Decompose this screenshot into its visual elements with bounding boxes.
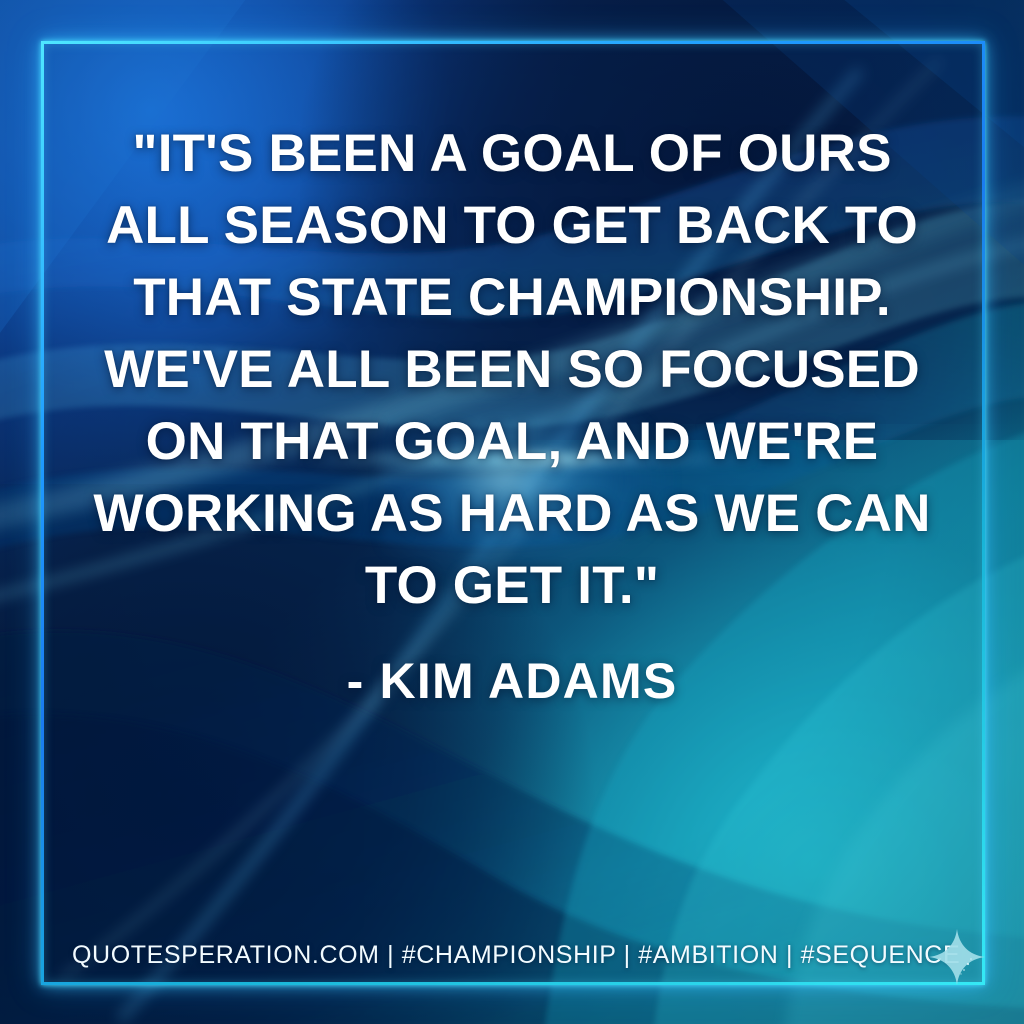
quote-card: "IT'S BEEN A GOAL OF OURS ALL SEASON TO … [0, 0, 1024, 1024]
quote-line: ON THAT GOAL, AND WE'RE [62, 406, 962, 478]
quote-line: ALL SEASON TO GET BACK TO [62, 190, 962, 262]
quote-attribution: - KIM ADAMS [62, 652, 962, 710]
quote-line: TO GET IT." [62, 550, 962, 622]
quote-line: "IT'S BEEN A GOAL OF OURS [62, 118, 962, 190]
quote-line: WORKING AS HARD AS WE CAN [62, 478, 962, 550]
four-point-sparkle-icon [928, 928, 986, 986]
quote-line: WE'VE ALL BEEN SO FOCUSED [62, 334, 962, 406]
footer-bar: QUOTESPERATION.COM | #CHAMPIONSHIP | #AM… [72, 941, 972, 970]
footer-credits: QUOTESPERATION.COM | #CHAMPIONSHIP | #AM… [72, 941, 960, 970]
quote-line: THAT STATE CHAMPIONSHIP. [62, 262, 962, 334]
quote-text: "IT'S BEEN A GOAL OF OURS ALL SEASON TO … [62, 118, 962, 622]
